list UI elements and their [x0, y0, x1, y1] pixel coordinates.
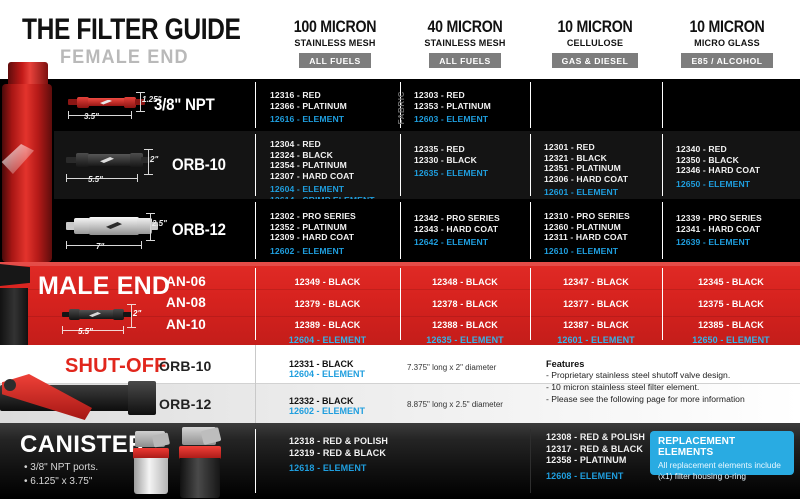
- column-header-10-micron-micro-glass: 10 MICRON MICRO GLASS E85 / ALCOHOL: [662, 18, 792, 69]
- replacement-elements-callout: REPLACEMENT ELEMENTS All replacement ele…: [650, 431, 794, 475]
- dim-diameter-orb12: 2.5": [152, 219, 167, 228]
- fabric-side-tag: FABRIC: [397, 91, 406, 124]
- column-fuel-badge: ALL FUELS: [299, 53, 371, 68]
- female-row-orb10: 5.5" 2" ORB-10 12304 - RED 12324 - BLACK…: [54, 131, 800, 199]
- dim-length-male: 5.5": [78, 327, 93, 336]
- red-filter-photo: [0, 62, 54, 262]
- page-title: THE FILTER GUIDE: [22, 13, 240, 47]
- shut-off-panel: SHUT-OFF ORB-10 ORB-12 12331 - BLACK 126…: [0, 345, 800, 423]
- canister-bullets: • 3/8" NPT ports. • 6.125" x 3.75": [24, 461, 98, 488]
- feature-item: - 10 micron stainless steel filter eleme…: [546, 381, 745, 393]
- canister-bullet: • 3/8" NPT ports.: [24, 461, 98, 475]
- female-row-orb12: 7" 2.5" ORB-12 12302 - PRO SERIES 12352 …: [54, 199, 800, 262]
- canister-col-3: 12308 - RED & POLISH 12317 - RED & BLACK…: [546, 432, 645, 482]
- filter-guide-sheet: THE FILTER GUIDE FEMALE END 100 MICRON S…: [0, 0, 800, 499]
- row-label-orb10: ORB-10: [172, 155, 226, 175]
- column-header-100-micron: 100 MICRON STAINLESS MESH ALL FUELS: [270, 18, 400, 69]
- shutoff-part-orb10: 12331 - BLACK 12604 - ELEMENT: [289, 359, 365, 379]
- cell-orb12-100micron: 12302 - PRO SERIES 12352 - PLATINUM 1230…: [270, 211, 356, 256]
- shutoff-row-label-orb10: ORB-10: [159, 358, 212, 374]
- column-micron: 40 MICRON: [409, 18, 521, 37]
- row-label-npt: 3/8" NPT: [154, 95, 215, 115]
- cell-orb12-10micron-microglass: 12339 - PRO SERIES 12341 - HARD COAT 126…: [676, 213, 762, 248]
- row-label-orb12: ORB-12: [172, 220, 226, 240]
- cell-orb10-100micron: 12304 - RED 12324 - BLACK 12354 - PLATIN…: [270, 139, 375, 206]
- features-block: Features - Proprietary stainless steel s…: [546, 359, 745, 405]
- column-media: STAINLESS MESH: [274, 38, 396, 49]
- an-size-label-08: AN-08: [166, 295, 206, 310]
- female-end-subtitle: FEMALE END: [60, 47, 189, 69]
- canister-col-1: 12318 - RED & POLISH 12319 - RED & BLACK…: [289, 436, 388, 475]
- callout-title: REPLACEMENT ELEMENTS: [658, 436, 787, 458]
- shutoff-row-label-orb12: ORB-12: [159, 396, 212, 412]
- male-end-title: MALE END: [38, 272, 170, 301]
- cell-orb12-10micron-cellulose: 12310 - PRO SERIES 12360 - PLATINUM 1231…: [544, 211, 630, 256]
- column-fuel-badge: ALL FUELS: [429, 53, 501, 68]
- cell-npt-40micron: 12303 - RED 12353 - PLATINUM 12603 - ELE…: [414, 90, 491, 125]
- canister-panel: CANISTER • 3/8" NPT ports. • 6.125" x 3.…: [0, 423, 800, 499]
- shutoff-dims-orb10: 7.375" long x 2" diameter: [407, 363, 496, 372]
- an-size-label-06: AN-06: [166, 274, 206, 289]
- column-header-40-micron: 40 MICRON STAINLESS MESH ALL FUELS: [400, 18, 530, 69]
- cell-orb10-40micron: 12335 - RED 12330 - BLACK 12635 - ELEMEN…: [414, 144, 488, 179]
- column-media: CELLULOSE: [534, 38, 656, 49]
- dim-length-orb12: 7": [96, 242, 104, 251]
- feature-item: - Proprietary stainless steel shutoff va…: [546, 369, 745, 381]
- product-thumb-male: [62, 306, 134, 322]
- column-fuel-badge: GAS & DIESEL: [552, 53, 639, 68]
- male-end-panel: MALE END 5.5" 2" AN-06 AN-08 AN-10 12349…: [0, 262, 800, 345]
- column-media: MICRO GLASS: [666, 38, 788, 49]
- canister-photo-black: [172, 427, 232, 499]
- dim-length-orb10: 5.5": [88, 175, 103, 184]
- product-thumb-orb10: [66, 151, 152, 169]
- product-thumb-orb12: [66, 215, 156, 237]
- callout-tail: [650, 469, 660, 476]
- female-row-npt: 3.5" 1.25" 3/8" NPT 12316 - RED 12366 - …: [54, 79, 800, 131]
- dim-diameter-orb10: 2": [150, 155, 158, 164]
- column-micron: 10 MICRON: [539, 18, 651, 37]
- feature-item: - Please see the following page for more…: [546, 393, 745, 405]
- column-header-10-micron-cellulose: 10 MICRON CELLULOSE GAS & DIESEL: [530, 18, 660, 69]
- shutoff-part-orb12: 12332 - BLACK 12602 - ELEMENT: [289, 396, 365, 416]
- canister-bullet: • 6.125" x 3.75": [24, 475, 98, 489]
- column-micron: 10 MICRON: [671, 18, 783, 37]
- cell-orb10-10micron-cellulose: 12301 - RED 12321 - BLACK 12351 - PLATIN…: [544, 142, 628, 198]
- cell-npt-100micron: 12316 - RED 12366 - PLATINUM 12616 - ELE…: [270, 90, 347, 125]
- cell-orb10-10micron-microglass: 12340 - RED 12350 - BLACK 12346 - HARD C…: [676, 144, 760, 189]
- column-micron: 100 MICRON: [279, 18, 391, 37]
- shut-off-title: SHUT-OFF: [65, 355, 167, 378]
- dim-diameter-male: 2": [133, 309, 141, 318]
- callout-body: All replacement elements include (x1) fi…: [658, 460, 787, 481]
- an-fitting-photo: [0, 262, 42, 345]
- product-thumb-npt: [68, 95, 146, 109]
- cell-orb12-40micron: 12342 - PRO SERIES 12343 - HARD COAT 126…: [414, 213, 500, 248]
- an-size-label-10: AN-10: [166, 317, 206, 332]
- features-title: Features: [546, 359, 745, 369]
- column-fuel-badge: E85 / ALCOHOL: [681, 53, 772, 68]
- dim-length-npt: 3.5": [84, 112, 99, 121]
- column-media: STAINLESS MESH: [404, 38, 526, 49]
- shutoff-dims-orb12: 8.875" long x 2.5" diameter: [407, 400, 503, 409]
